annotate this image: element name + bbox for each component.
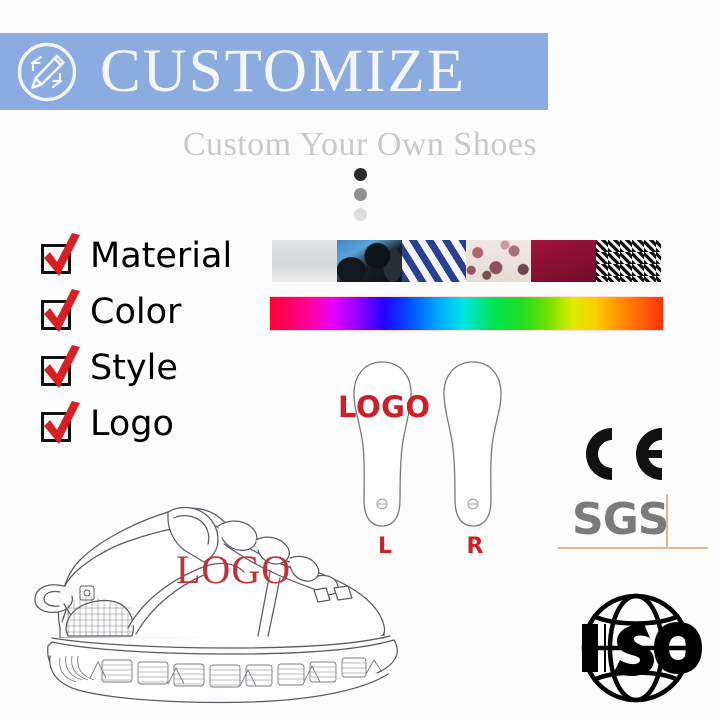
material-swatch-floral-speckle[interactable] [466, 240, 531, 282]
checklist-item-label: Logo [90, 407, 174, 442]
checklist-item-color[interactable]: Color [38, 290, 232, 335]
checkbox-checked-icon[interactable] [38, 238, 76, 276]
material-swatch-blue-black-abstract[interactable] [337, 240, 402, 282]
checklist-item-material[interactable]: Material [38, 234, 232, 279]
sgs-label: SGS [572, 498, 669, 542]
checkbox-checked-icon[interactable] [38, 294, 76, 332]
material-swatch-burgundy-solid[interactable] [531, 240, 596, 282]
sgs-accent-vertical-line [666, 494, 668, 548]
dot-dark [354, 168, 367, 181]
checklist-item-label: Color [90, 295, 181, 330]
material-swatch-plain-light-gray[interactable] [272, 240, 337, 282]
material-swatch-strip [272, 240, 661, 282]
ce-mark-icon [578, 424, 670, 484]
sgs-accent-horizontal-line [558, 547, 708, 549]
material-swatch-blue-white-stripe[interactable] [402, 240, 467, 282]
pencil-edit-icon [16, 41, 78, 103]
checklist-item-logo[interactable]: Logo [38, 402, 232, 447]
checklist-item-label: Style [90, 351, 178, 386]
insole-label-right: R [430, 534, 520, 559]
checklist-item-style[interactable]: Style [38, 346, 232, 391]
checklist-item-label: Material [90, 239, 232, 274]
iso-mark-icon [560, 588, 712, 708]
shoe-logo-text: LOGO [176, 546, 291, 593]
material-swatch-black-white-herringbone[interactable] [596, 240, 661, 282]
checkbox-checked-icon[interactable] [38, 406, 76, 444]
dot-light [354, 208, 367, 221]
insole-logo-text: LOGO [338, 390, 431, 424]
dot-indicator-group [0, 168, 720, 221]
dot-mid [354, 188, 367, 201]
customization-checklist: Material Color Style [38, 234, 232, 447]
header-banner: CUSTOMIZE [0, 33, 548, 110]
page-subtitle: Custom Your Own Shoes [0, 126, 720, 164]
sneaker-line-art-icon: LOGO [18, 478, 426, 710]
page-title: CUSTOMIZE [100, 41, 466, 102]
rainbow-gradient-bar[interactable] [270, 297, 663, 330]
customize-banner-page: CUSTOMIZE Custom Your Own Shoes Material [0, 0, 720, 720]
sgs-mark-icon: SGS [572, 498, 692, 552]
checkbox-checked-icon[interactable] [38, 350, 76, 388]
